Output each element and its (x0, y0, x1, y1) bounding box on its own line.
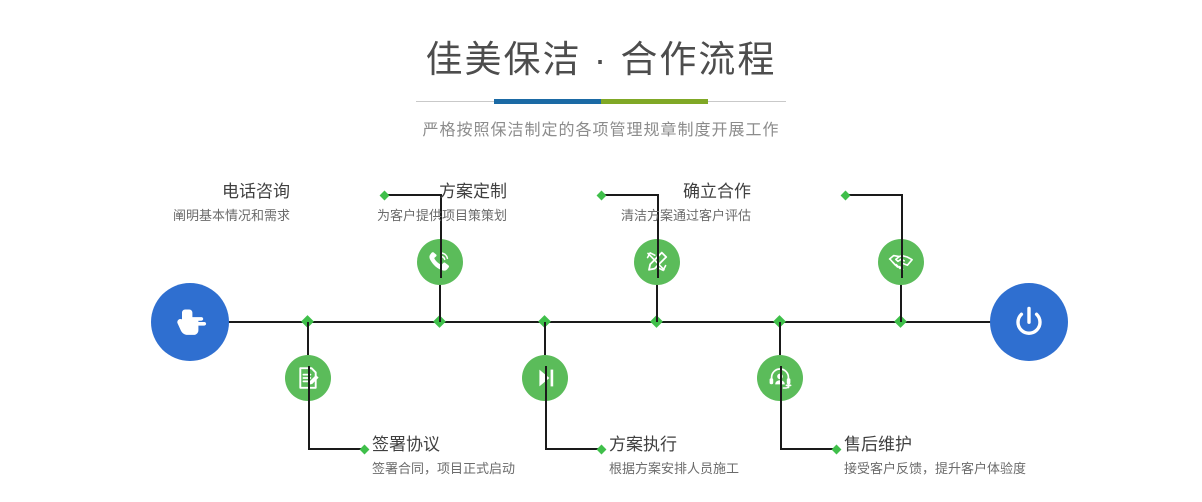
elbow-horizontal-4 (545, 448, 601, 450)
step-title-5: 确立合作 (621, 181, 751, 204)
step-desc-2: 签署合同，项目正式启动 (372, 460, 515, 478)
step-desc-6: 接受客户反馈，提升客户体验度 (844, 460, 1026, 478)
stem-2 (307, 322, 309, 355)
step-label-1: 电话咨询 阐明基本情况和需求 (173, 181, 290, 224)
step-desc-3: 为客户提供项目策策划 (377, 207, 507, 225)
step-desc-5: 清洁方案通过客户评估 (621, 207, 751, 225)
step-label-2: 签署协议 签署合同，项目正式启动 (372, 434, 515, 477)
elbow-vertical-4 (545, 366, 547, 450)
label-marker-5 (841, 191, 851, 201)
step-label-3: 方案定制 为客户提供项目策策划 (377, 181, 507, 224)
step-label-4: 方案执行 根据方案安排人员施工 (609, 434, 739, 477)
elbow-horizontal-5 (846, 194, 902, 196)
step-title-6: 售后维护 (844, 434, 1026, 457)
step-desc-4: 根据方案安排人员施工 (609, 460, 739, 478)
flow-diagram-page: 佳美保洁 · 合作流程 严格按照保洁制定的各项管理规章制度开展工作 (0, 0, 1202, 502)
process-timeline: 电话咨询 阐明基本情况和需求 (0, 0, 1202, 502)
timeline-start-node[interactable] (151, 283, 229, 361)
step-title-2: 签署协议 (372, 434, 515, 457)
label-marker-3 (597, 191, 607, 201)
pointing-hand-icon (167, 299, 213, 345)
step-desc-1: 阐明基本情况和需求 (173, 207, 290, 225)
power-icon (1006, 299, 1052, 345)
timeline-end-node[interactable] (990, 283, 1068, 361)
stem-4 (544, 322, 546, 355)
step-title-4: 方案执行 (609, 434, 739, 457)
stem-6 (779, 322, 781, 355)
elbow-vertical-2 (308, 366, 310, 450)
step-label-5: 确立合作 清洁方案通过客户评估 (621, 181, 751, 224)
elbow-horizontal-2 (308, 448, 364, 450)
elbow-vertical-5 (901, 194, 903, 278)
label-marker-6 (832, 445, 842, 455)
elbow-horizontal-6 (780, 448, 836, 450)
elbow-vertical-6 (780, 366, 782, 450)
step-label-6: 售后维护 接受客户反馈，提升客户体验度 (844, 434, 1026, 477)
step-title-3: 方案定制 (377, 181, 507, 204)
step-title-1: 电话咨询 (173, 181, 290, 204)
label-marker-2 (360, 445, 370, 455)
label-marker-4 (597, 445, 607, 455)
